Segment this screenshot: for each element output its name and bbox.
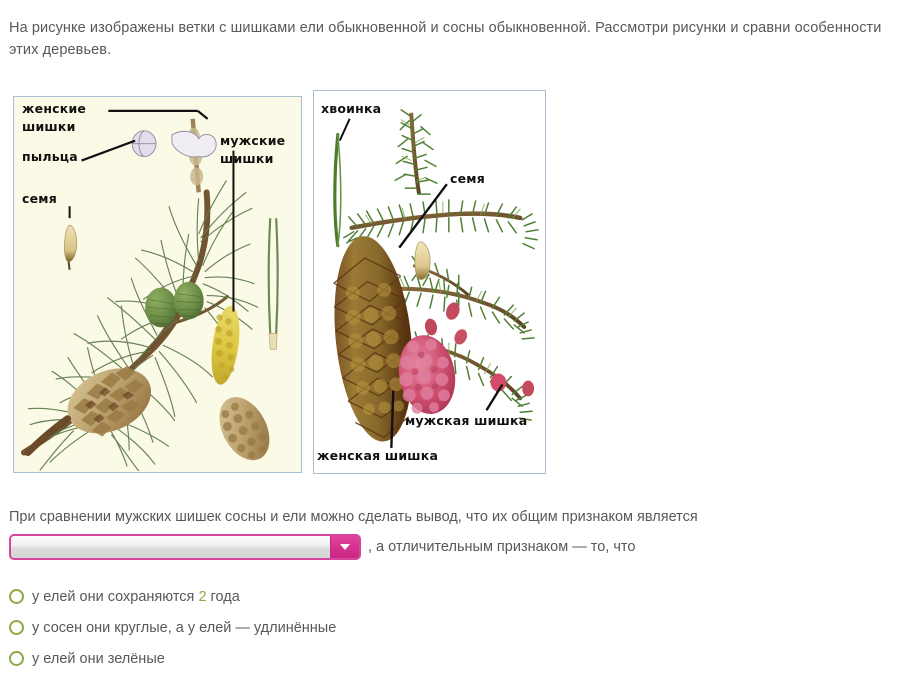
- answer-option-3[interactable]: у елей они зелёные: [9, 643, 609, 674]
- answer-option-3-label: у елей они зелёные: [32, 651, 165, 667]
- pine-label-male-cones-line2: шишки: [220, 151, 274, 166]
- question-text-tail: , а отличительным признаком — то, что: [368, 539, 635, 555]
- spruce-label-seed: семя: [450, 171, 485, 186]
- radio-button-icon[interactable]: [9, 620, 24, 635]
- answer-option-1[interactable]: у елей они сохраняются 2 года: [9, 581, 609, 612]
- pine-label-female-cones-line1: женские: [22, 101, 86, 116]
- spruce-label-needle: хвоинка: [321, 101, 381, 116]
- common-feature-dropdown[interactable]: [9, 534, 361, 560]
- pine-label-female-cones-line2: шишки: [22, 119, 76, 134]
- chevron-down-icon: [340, 544, 350, 550]
- pine-label-male-cones-line1: мужские: [220, 133, 285, 148]
- option-1-prefix: у елей они сохраняются: [32, 589, 198, 605]
- spruce-label-male-cone: мужская шишка: [405, 413, 527, 428]
- question-text-line1: При сравнении мужских шишек сосны и ели …: [9, 509, 698, 525]
- pine-label-pollen: пыльца: [22, 149, 78, 164]
- figure-pine-branch: женские шишки пыльца семя мужские шишки: [13, 96, 302, 473]
- page-intro-text: На рисунке изображены ветки с шишками ел…: [9, 17, 889, 61]
- option-1-suffix: года: [207, 589, 240, 605]
- dropdown-toggle-button[interactable]: [330, 536, 359, 558]
- figure-spruce-branch: хвоинка семя мужская шишка женская шишка: [313, 90, 546, 474]
- spruce-label-female-cone: женская шишка: [317, 448, 438, 463]
- answer-option-1-label: у елей они сохраняются 2 года: [32, 589, 240, 605]
- pine-label-seed: семя: [22, 191, 57, 206]
- radio-button-icon[interactable]: [9, 589, 24, 604]
- answer-options-list: у елей они сохраняются 2 года у сосен он…: [9, 581, 609, 674]
- question-row-with-dropdown: , а отличительным признаком — то, что: [9, 534, 635, 560]
- answer-option-2-label: у сосен они круглые, а у елей — удлинённ…: [32, 620, 336, 636]
- answer-option-2[interactable]: у сосен они круглые, а у елей — удлинённ…: [9, 612, 609, 643]
- radio-button-icon[interactable]: [9, 651, 24, 666]
- option-1-accent-number: 2: [198, 589, 206, 605]
